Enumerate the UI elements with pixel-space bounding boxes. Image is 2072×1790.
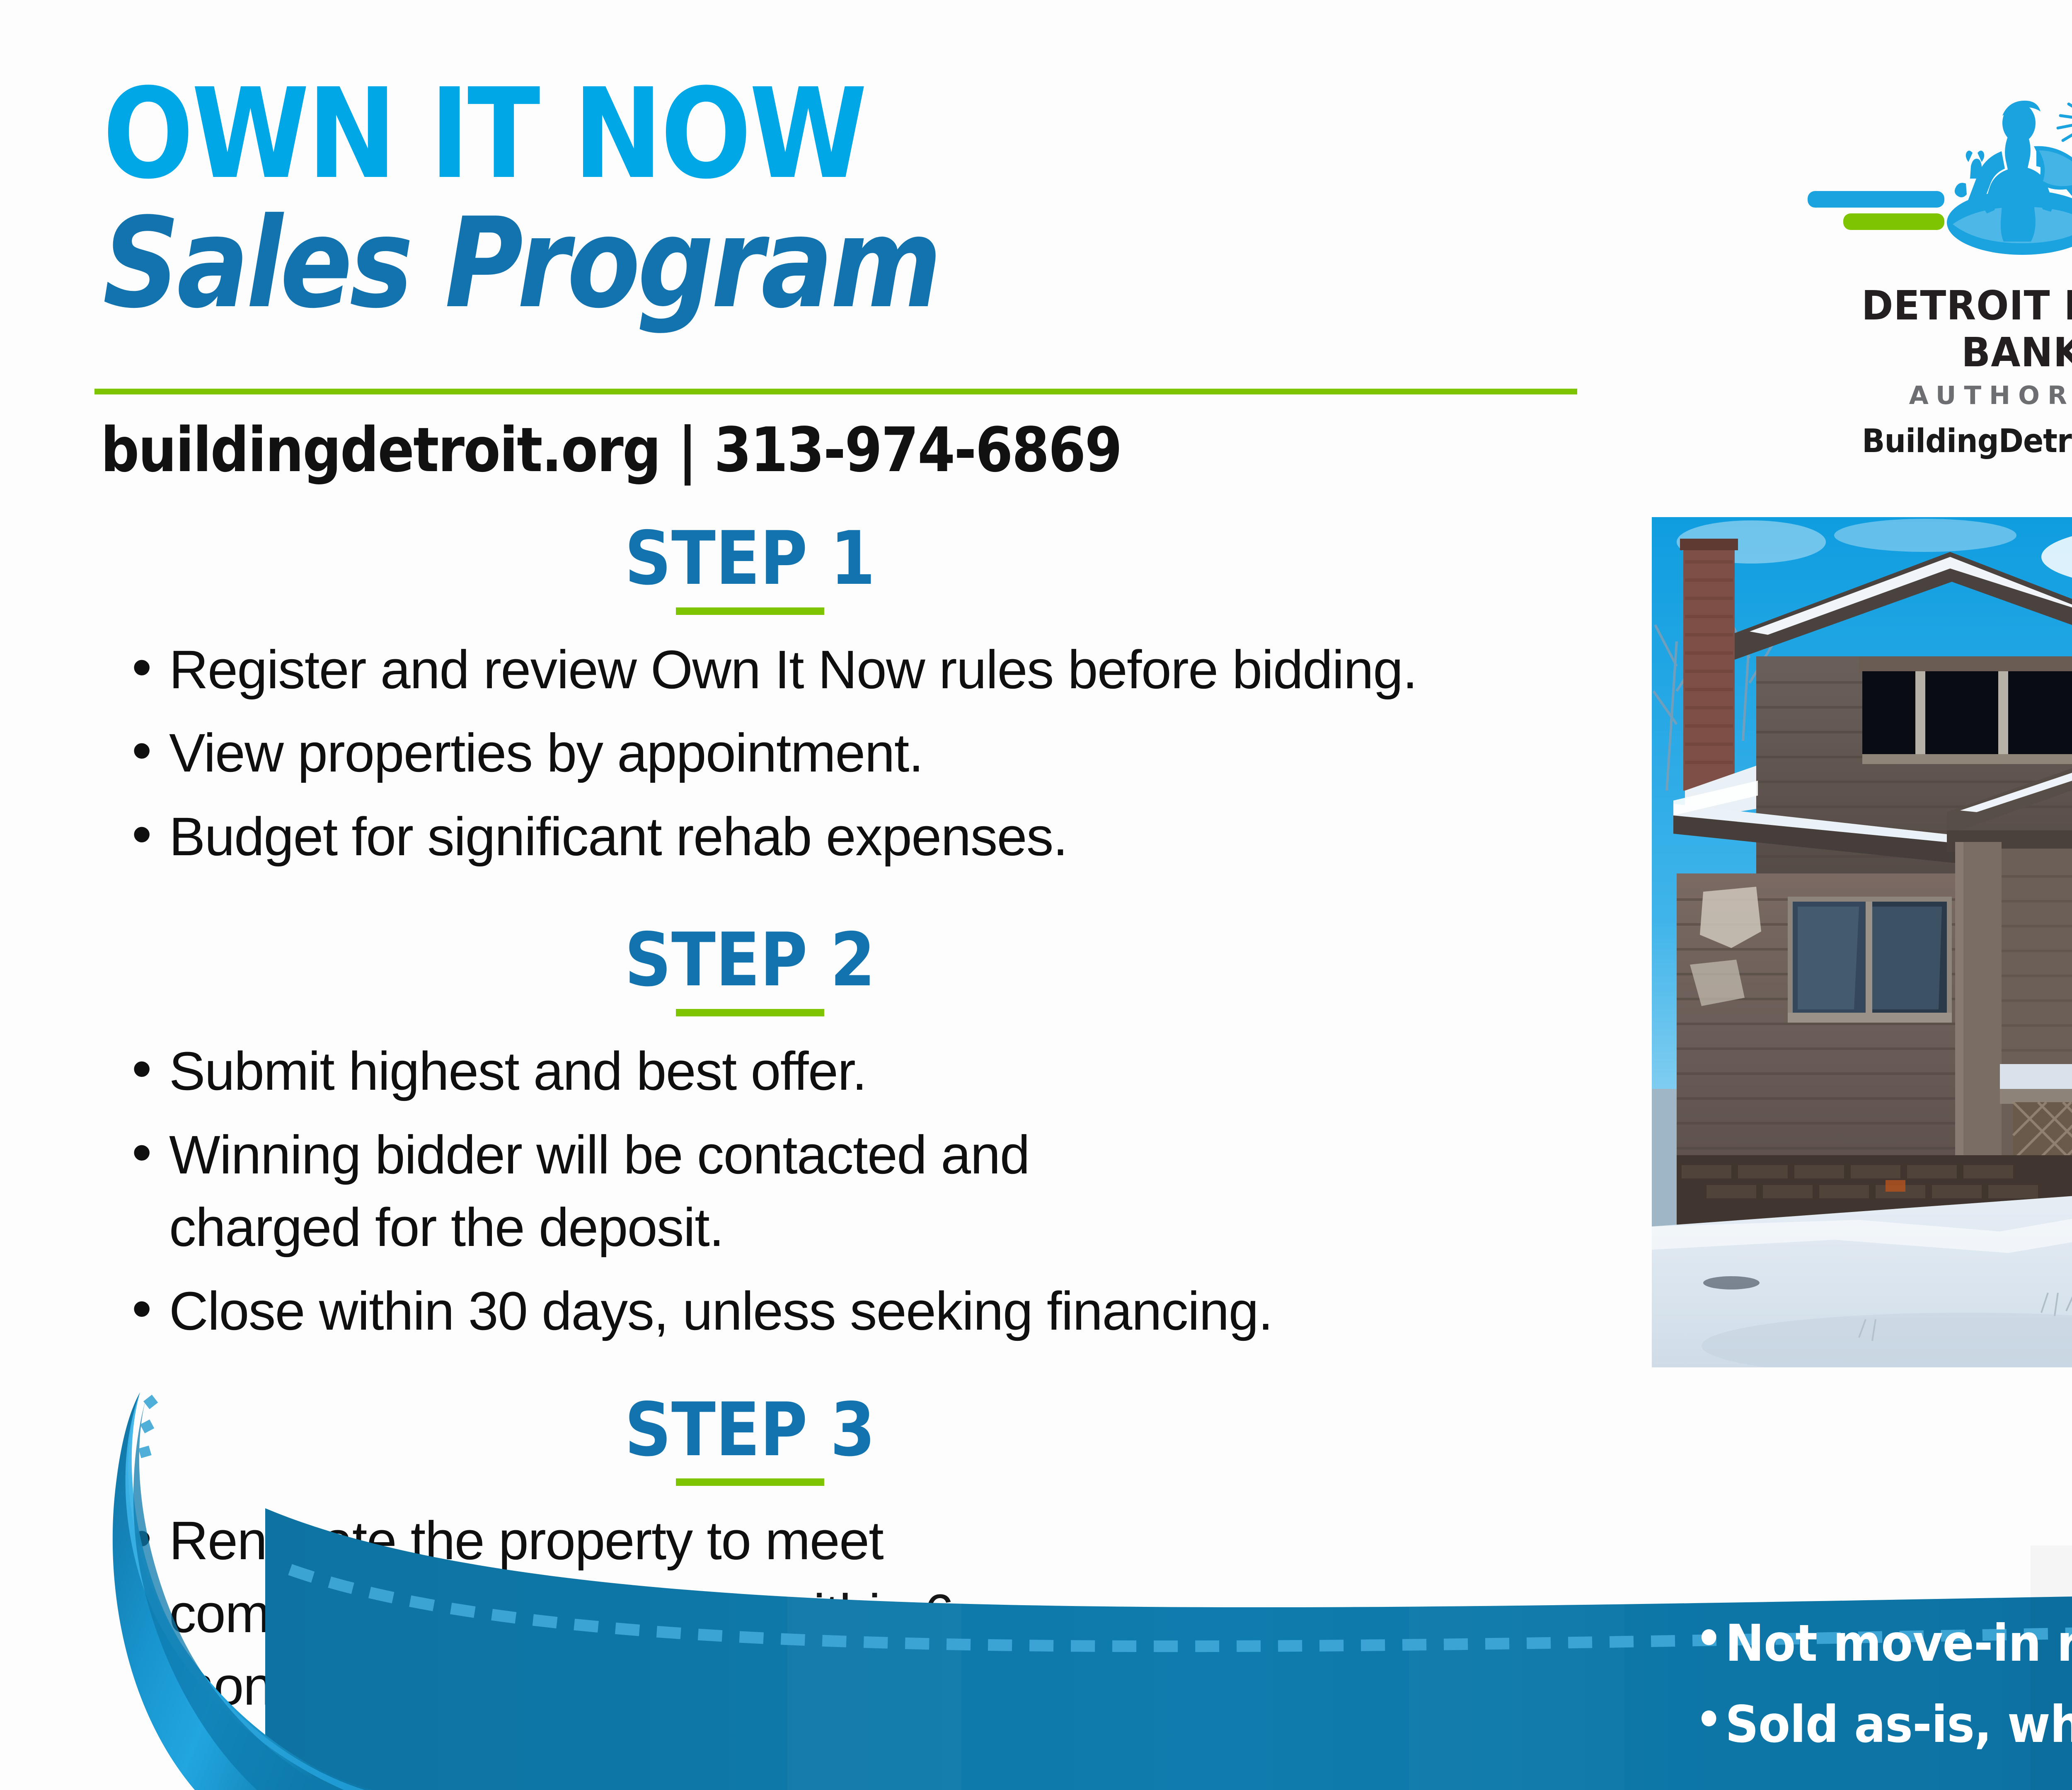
step-bullets-1: Register and review Own It Now rules bef… bbox=[124, 633, 1550, 873]
logo-url[interactable]: BuildingDetroit.org bbox=[1806, 423, 2072, 460]
banner-notes: Not move-in ready Sold as-is, where-is bbox=[1692, 1618, 2072, 1780]
list-item: Submit highest and best offer. bbox=[124, 1035, 1484, 1108]
list-item: View properties by appointment. bbox=[124, 716, 1484, 789]
detroit-land-bank-logo: DETROIT LAND BANK AUTHORITY BuildingDetr… bbox=[1790, 85, 2072, 460]
step-bullets-3: Renovate the property to meet compliance… bbox=[124, 1504, 1550, 1722]
poster-canvas: OWN IT NOW Sales Program buildingdetroit… bbox=[0, 0, 2072, 1790]
property-photo bbox=[1652, 517, 2072, 1367]
page-title: OWN IT NOW Sales Program bbox=[103, 75, 1595, 326]
spirit-of-detroit-icon bbox=[1790, 85, 2072, 280]
step-header-2: STEP 2 bbox=[443, 922, 1057, 1016]
list-item: Budget for significant rehab expenses. bbox=[124, 800, 1484, 873]
step-header-1: STEP 1 bbox=[443, 520, 1057, 615]
list-item: Winning bidder will be contacted and cha… bbox=[124, 1118, 1152, 1264]
steps-section: STEP 1 Register and review Own It Now ru… bbox=[99, 520, 1550, 1733]
list-item: Renovate the property to meet compliance… bbox=[124, 1504, 1127, 1722]
header-green-divider bbox=[94, 389, 1577, 394]
logo-name: DETROIT LAND BANK bbox=[1802, 282, 2072, 376]
step-header-3: STEP 3 bbox=[443, 1391, 1057, 1486]
list-item: Close within 30 days, unless seeking fin… bbox=[124, 1275, 1484, 1347]
list-item: Register and review Own It Now rules bef… bbox=[124, 633, 1484, 706]
list-item: Sold as-is, where-is bbox=[1692, 1699, 2072, 1750]
list-item: Not move-in ready bbox=[1692, 1618, 2072, 1669]
step-underline-2 bbox=[676, 1009, 824, 1016]
step-label-3: STEP 3 bbox=[625, 1391, 876, 1469]
logo-subtitle: AUTHORITY bbox=[1790, 381, 2072, 410]
title-sales-program: Sales Program bbox=[103, 201, 1386, 326]
step-underline-3 bbox=[676, 1478, 824, 1486]
vacant-house-in-snow-photo bbox=[1652, 517, 2072, 1367]
title-own-it-now: OWN IT NOW bbox=[103, 75, 1386, 194]
step-bullets-2: Submit highest and best offer. Winning b… bbox=[124, 1035, 1550, 1347]
step-underline-1 bbox=[676, 607, 824, 615]
contact-line[interactable]: buildingdetroit.org | 313-974-6869 bbox=[101, 414, 1121, 486]
step-label-2: STEP 2 bbox=[625, 922, 876, 999]
step-label-1: STEP 1 bbox=[625, 520, 876, 597]
